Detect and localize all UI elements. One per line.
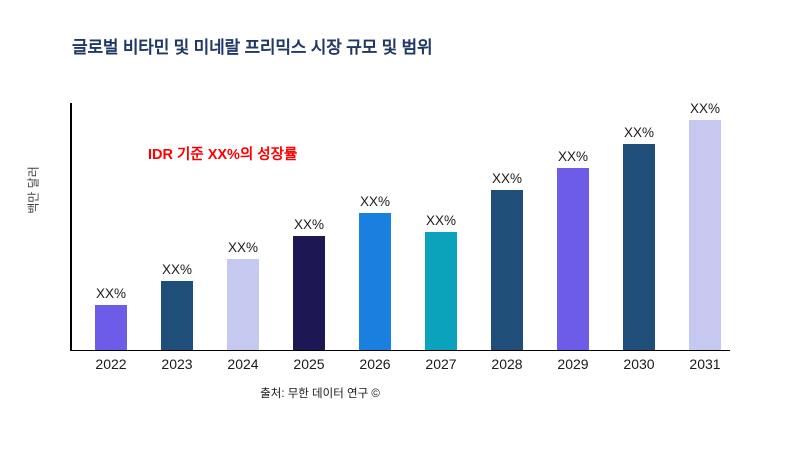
x-tick-label-2026: 2026 (342, 356, 408, 372)
x-tick-label-2027: 2027 (408, 356, 474, 372)
bar-2026[interactable] (359, 213, 391, 350)
bar-value-label-2031: XX% (672, 101, 738, 116)
bar-2030[interactable] (623, 144, 655, 350)
bar-value-label-2025: XX% (276, 217, 342, 232)
x-tick-label-2028: 2028 (474, 356, 540, 372)
bar-2024[interactable] (227, 259, 259, 350)
bar-value-label-2023: XX% (144, 262, 210, 277)
bar-value-label-2026: XX% (342, 194, 408, 209)
bar-value-label-2024: XX% (210, 240, 276, 255)
bar-chart-figure: 글로벌 비타민 및 미네랄 프리믹스 시장 규모 및 범위 백만 달러 IDR … (0, 0, 800, 450)
bar-2029[interactable] (557, 168, 589, 350)
x-tick-label-2031: 2031 (672, 356, 738, 372)
bar-2027[interactable] (425, 232, 457, 350)
x-tick-label-2024: 2024 (210, 356, 276, 372)
x-tick-label-2029: 2029 (540, 356, 606, 372)
bar-value-label-2022: XX% (78, 286, 144, 301)
x-tick-label-2022: 2022 (78, 356, 144, 372)
bar-2028[interactable] (491, 190, 523, 350)
bar-2025[interactable] (293, 236, 325, 350)
bar-2022[interactable] (95, 305, 127, 350)
bar-value-label-2030: XX% (606, 125, 672, 140)
source-note: 출처: 무한 데이터 연구 © (250, 385, 390, 401)
x-tick-label-2025: 2025 (276, 356, 342, 372)
plot-area: XX%2022XX%2023XX%2024XX%2025XX%2026XX%20… (0, 0, 800, 450)
bar-value-label-2029: XX% (540, 149, 606, 164)
bar-2023[interactable] (161, 281, 193, 350)
x-tick-label-2030: 2030 (606, 356, 672, 372)
bar-2031[interactable] (689, 120, 721, 350)
bar-value-label-2027: XX% (408, 213, 474, 228)
bar-value-label-2028: XX% (474, 171, 540, 186)
x-tick-label-2023: 2023 (144, 356, 210, 372)
